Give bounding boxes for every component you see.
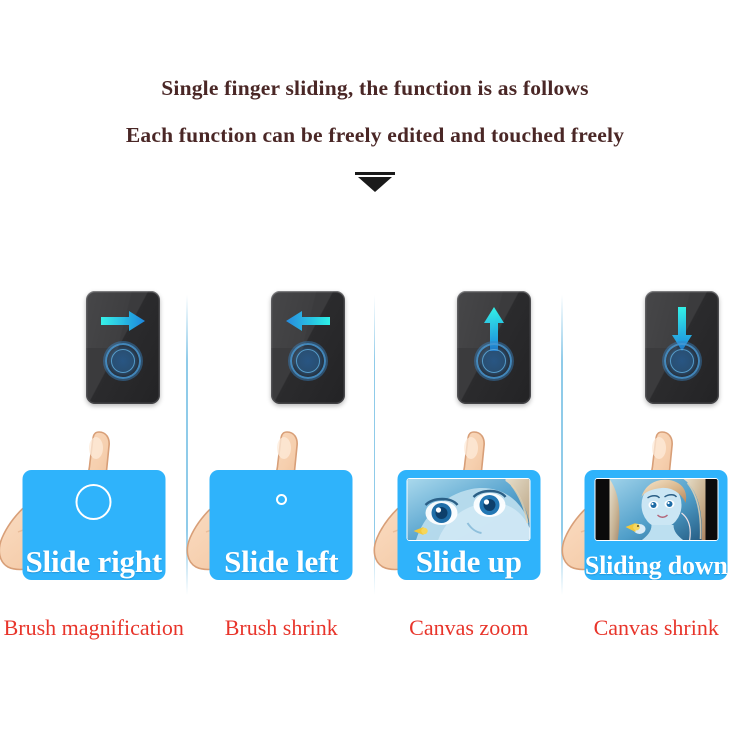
touch-panel-icon[interactable] (457, 291, 531, 404)
caption-brush-shrink: Brush shrink (188, 608, 376, 654)
caption-canvas-zoom: Canvas zoom (375, 608, 563, 654)
arrow-left-icon (284, 310, 332, 332)
circle-outline-small-icon (276, 494, 287, 505)
touch-panel-icon[interactable] (271, 291, 345, 404)
artwork-thumbnail-icon (407, 478, 531, 541)
chevron-down-icon (0, 172, 750, 202)
gesture-panels: Slide right (0, 260, 750, 660)
chevron-down-triangle (358, 177, 392, 192)
card-label: Slide left (210, 546, 353, 579)
headline-secondary: Each function can be freely edited and t… (0, 125, 750, 147)
touch-panel-icon[interactable] (86, 291, 160, 404)
chevron-down-bar (355, 172, 395, 175)
caption-canvas-shrink: Canvas shrink (563, 608, 750, 654)
result-card-slide-up[interactable]: Slide up (397, 470, 540, 580)
card-label: Slide up (397, 546, 540, 579)
panel-sliding-down[interactable]: Sliding down (563, 260, 750, 660)
touch-ripple-icon (664, 343, 700, 379)
circle-outline-large-icon (76, 484, 112, 520)
captions-row: Brush magnification Brush shrink Canvas … (0, 608, 750, 654)
panel-slide-up[interactable]: Slide up (375, 260, 563, 660)
header: Single finger sliding, the function is a… (0, 0, 750, 146)
touch-panel-icon[interactable] (645, 291, 719, 404)
result-card-sliding-down[interactable]: Sliding down (585, 470, 728, 580)
panel-slide-left[interactable]: Slide left (188, 260, 376, 660)
card-label: Slide right (22, 546, 165, 579)
touch-ripple-icon (290, 343, 326, 379)
card-label: Sliding down (585, 552, 728, 579)
panel-slide-right[interactable]: Slide right (0, 260, 188, 660)
result-card-slide-left[interactable]: Slide left (210, 470, 353, 580)
artwork-thumbnail-icon (594, 478, 718, 541)
result-card-slide-right[interactable]: Slide right (22, 470, 165, 580)
arrow-right-icon (99, 310, 147, 332)
touch-ripple-icon (476, 343, 512, 379)
caption-brush-magnification: Brush magnification (0, 608, 188, 654)
headline-primary: Single finger sliding, the function is a… (0, 78, 750, 100)
touch-ripple-icon (105, 343, 141, 379)
